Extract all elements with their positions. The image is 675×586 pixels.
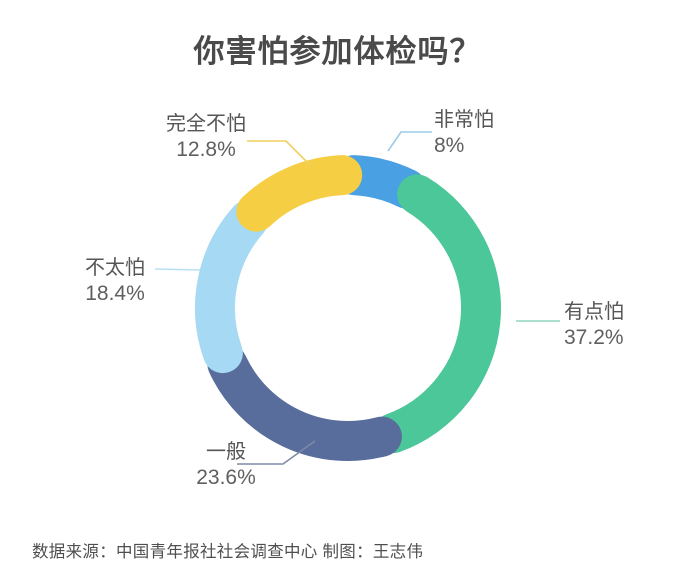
donut-slice-3 [215,220,248,353]
source-note: 数据来源：中国青年报社社会调查中心 制图：王志伟 [32,538,423,562]
donut-slice-4 [256,175,342,212]
callout-yiban: 一般 23.6% [166,440,286,491]
donut-slice-1 [393,194,481,433]
callout-percent-label: 23.6% [166,465,286,491]
donut-slice-2 [227,364,382,441]
callout-category-label: 完全不怕 [146,112,266,137]
callout-butaipa: 不太怕 18.4% [60,256,170,307]
callout-percent-label: 18.4% [60,281,170,307]
callout-wanquanbupa: 完全不怕 12.8% [146,112,266,163]
callout-category-label: 非常怕 [434,108,494,133]
callout-category-label: 一般 [166,440,286,465]
leader-line-feichangpa [388,132,432,151]
callout-percent-label: 12.8% [146,137,266,163]
callout-percent-label: 8% [434,133,494,159]
callout-category-label: 不太怕 [60,256,170,281]
donut-segments [215,175,481,441]
callout-category-label: 有点怕 [564,300,624,325]
callout-feichangpa: 非常怕 8% [434,108,494,159]
callout-percent-label: 37.2% [564,325,624,351]
callout-youdianpa: 有点怕 37.2% [564,300,624,351]
